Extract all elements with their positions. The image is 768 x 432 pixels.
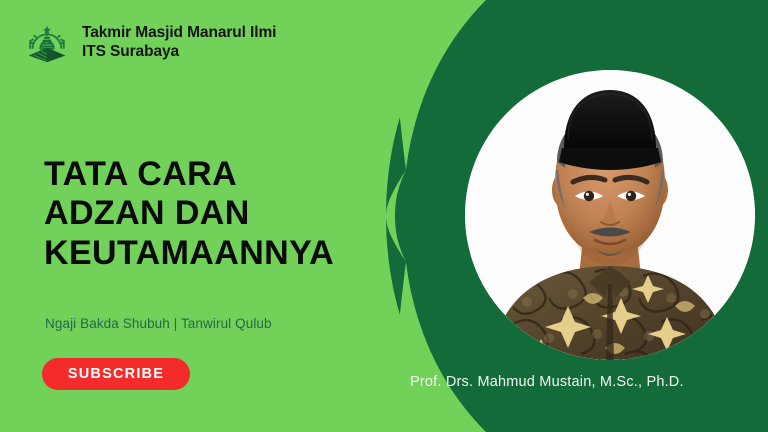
subscribe-button[interactable]: SUBSCRIBE xyxy=(42,358,190,390)
organization-name: Takmir Masjid Manarul Ilmi ITS Surabaya xyxy=(82,24,276,62)
title-line-2: ADZAN DAN xyxy=(44,194,334,233)
title-line-1: TATA CARA xyxy=(44,155,334,194)
program-subtitle: Ngaji Bakda Shubuh | Tanwirul Qulub xyxy=(45,316,272,331)
title-line-3: KEUTAMAANNYA xyxy=(44,234,334,273)
brand-header: Takmir Masjid Manarul Ilmi ITS Surabaya xyxy=(24,20,276,66)
speaker-name-caption: Prof. Drs. Mahmud Mustain, M.Sc., Ph.D. xyxy=(410,374,684,390)
mosque-gear-logo-icon xyxy=(24,20,70,66)
speaker-portrait-image xyxy=(465,70,755,360)
page-title: TATA CARA ADZAN DAN KEUTAMAANNYA xyxy=(44,155,334,273)
speaker-portrait-circle xyxy=(465,70,755,360)
video-thumbnail: Takmir Masjid Manarul Ilmi ITS Surabaya … xyxy=(0,0,768,432)
